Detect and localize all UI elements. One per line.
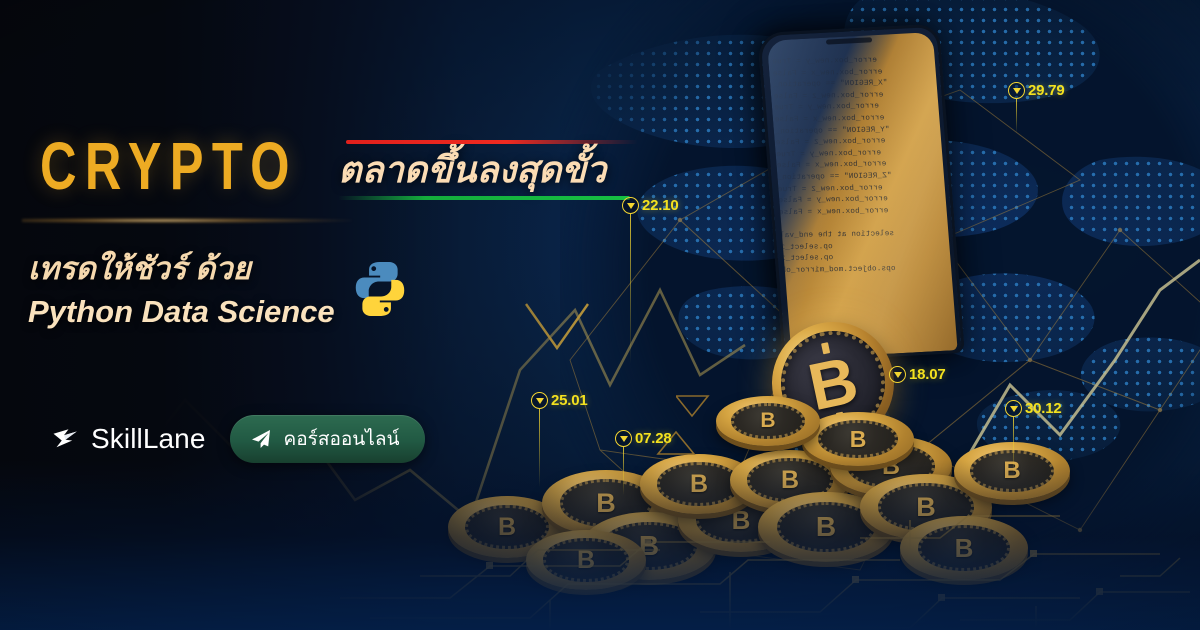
light-flare <box>22 218 352 223</box>
python-logo <box>349 258 411 320</box>
price-value: 30.12 <box>1025 400 1062 417</box>
subtitle-block: เทรดให้ชัวร์ ด้วย Python Data Science <box>28 248 411 334</box>
skilllane-name: SkillLane <box>91 423 206 455</box>
price-marker: 07.28 <box>615 430 672 447</box>
crypto-course-banner: error_box.new_y = True error_box.new_x =… <box>0 0 1200 630</box>
price-marker: 25.01 <box>531 392 588 409</box>
price-marker: 30.12 <box>1005 400 1062 417</box>
down-triangle-pin-icon <box>1005 400 1022 417</box>
brand-row: SkillLane คอร์สออนไลน์ <box>52 415 425 463</box>
page-title-crypto: CRYPTO <box>40 133 298 200</box>
price-value: 18.07 <box>909 366 946 383</box>
online-course-label: คอร์สออนไลน์ <box>284 424 400 454</box>
price-marker: 29.79 <box>1008 82 1065 99</box>
price-value: 07.28 <box>635 430 672 447</box>
skilllane-logo[interactable]: SkillLane <box>52 423 206 455</box>
subtitle-line-2: Python Data Science <box>28 291 335 334</box>
red-accent-rule <box>346 140 638 144</box>
thai-headline: ตลาดขึ้นลงสุดขั้ว <box>338 149 606 190</box>
down-triangle-pin-icon <box>1008 82 1025 99</box>
price-value: 29.79 <box>1028 82 1065 99</box>
online-course-badge[interactable]: คอร์สออนไลน์ <box>230 415 426 463</box>
down-triangle-pin-icon <box>889 366 906 383</box>
thai-headline-wrap: ตลาดขึ้นลงสุดขั้ว <box>338 140 606 200</box>
subtitle-line-1: เทรดให้ชัวร์ ด้วย <box>28 251 251 286</box>
skilllane-arrow-mark-icon <box>52 424 82 454</box>
price-marker: 22.10 <box>622 197 679 214</box>
down-triangle-pin-icon <box>615 430 632 447</box>
price-marker: 18.07 <box>889 366 946 383</box>
down-triangle-pin-icon <box>622 197 639 214</box>
paper-plane-icon <box>249 427 273 451</box>
price-value: 25.01 <box>551 392 588 409</box>
price-value: 22.10 <box>642 197 679 214</box>
green-accent-rule <box>338 196 630 200</box>
subtitle-text: เทรดให้ชัวร์ ด้วย Python Data Science <box>28 248 335 334</box>
headline-row: CRYPTO ตลาดขึ้นลงสุดขั้ว <box>40 140 606 200</box>
down-triangle-pin-icon <box>531 392 548 409</box>
